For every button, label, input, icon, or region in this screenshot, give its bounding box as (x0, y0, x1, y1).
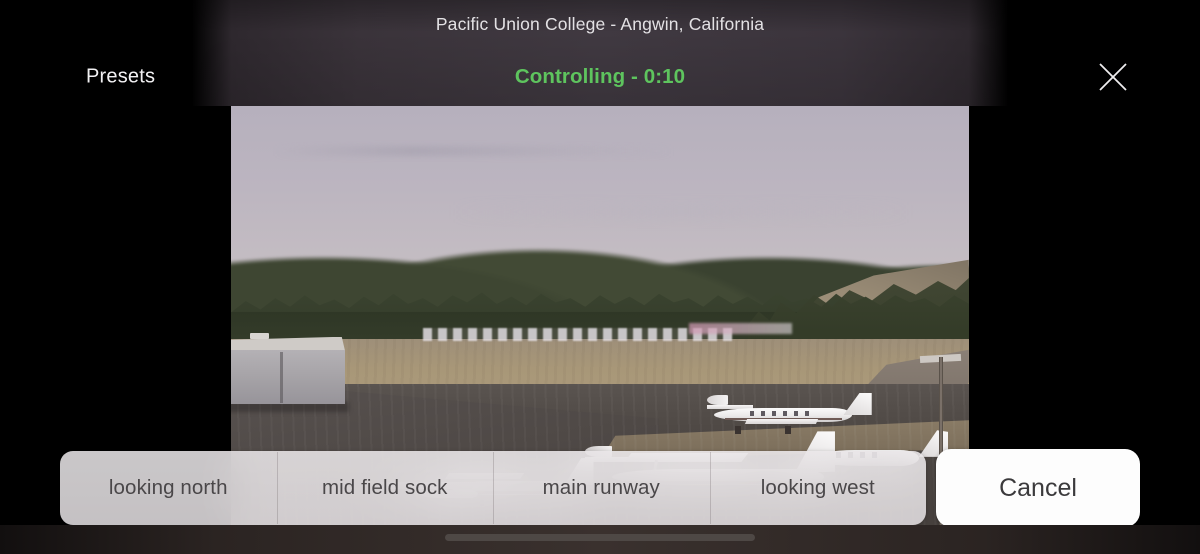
aircraft-landing-gear (785, 426, 791, 434)
aircraft-windows (750, 411, 810, 416)
close-x-icon (1096, 60, 1130, 94)
preset-item-looking-north[interactable]: looking north (60, 451, 277, 525)
bottom-bar (0, 525, 1200, 554)
parked-aircraft-turboprop (707, 395, 884, 435)
camera-control-screen: Pacific Union College - Angwin, Californ… (0, 0, 1200, 554)
aircraft-tailfin (843, 393, 871, 416)
control-bar: Presets Controlling - 0:10 (0, 48, 1200, 106)
home-indicator[interactable] (445, 534, 755, 541)
preset-item-mid-field-sock[interactable]: mid field sock (277, 451, 494, 525)
top-chrome-bar: Pacific Union College - Angwin, Californ… (0, 0, 1200, 106)
preset-item-main-runway[interactable]: main runway (493, 451, 710, 525)
hangar-door-seam (280, 352, 283, 403)
preset-segmented-control[interactable]: looking north mid field sock main runway… (60, 451, 926, 525)
cloud-streak (275, 146, 674, 156)
aircraft-landing-gear (735, 426, 740, 434)
distant-vehicle-row (423, 328, 733, 341)
controlling-status: Controlling - 0:10 (0, 65, 1200, 89)
hangar-building (231, 350, 345, 404)
cloud-streak-secondary (452, 205, 910, 219)
preset-item-looking-west[interactable]: looking west (710, 451, 927, 525)
aircraft-nose (707, 395, 728, 405)
aircraft-wing (745, 419, 818, 424)
distant-structure-row (689, 323, 792, 334)
camera-title: Pacific Union College - Angwin, Californ… (436, 14, 764, 35)
title-bar: Pacific Union College - Angwin, Californ… (0, 0, 1200, 48)
cancel-button[interactable]: Cancel (936, 449, 1140, 527)
close-icon[interactable] (1096, 60, 1130, 94)
hangar-roof-vent (250, 333, 269, 339)
